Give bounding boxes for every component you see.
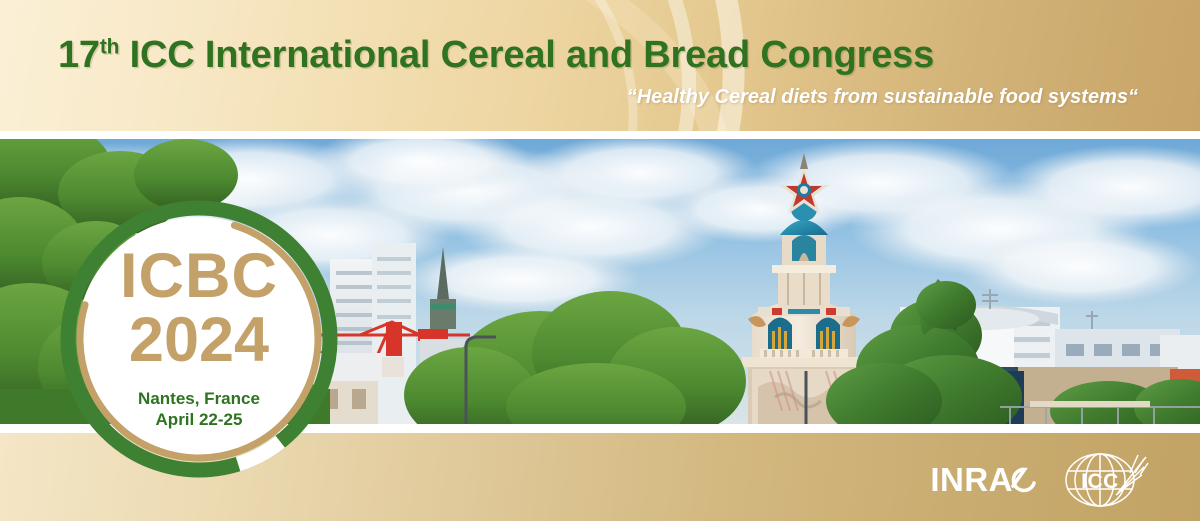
icc-logo-text: ICC (1081, 470, 1119, 493)
page-subtitle: “Healthy Cereal diets from sustainable f… (627, 86, 1138, 109)
title-ordinal-suffix: th (100, 35, 119, 58)
icbc-badge[interactable]: ICBC 2024 Nantes, France April 22-25 (58, 198, 340, 480)
page-title: 17th ICC International Cereal and Bread … (58, 34, 934, 77)
header-photo-divider (0, 131, 1200, 139)
icbc-badge-rings (58, 198, 340, 480)
title-ordinal-number: 17 (58, 34, 100, 76)
inrae-logo[interactable]: INRA (930, 463, 1036, 496)
conference-banner: 17th ICC International Cereal and Bread … (0, 0, 1200, 521)
inrae-logo-text: INRA (930, 463, 1013, 496)
inrae-logo-e-mark (1010, 464, 1036, 494)
title-main-text: ICC International Cereal and Bread Congr… (119, 34, 934, 76)
icc-logo[interactable]: ICC (1058, 449, 1152, 509)
sponsor-logos: INRA (930, 449, 1152, 509)
